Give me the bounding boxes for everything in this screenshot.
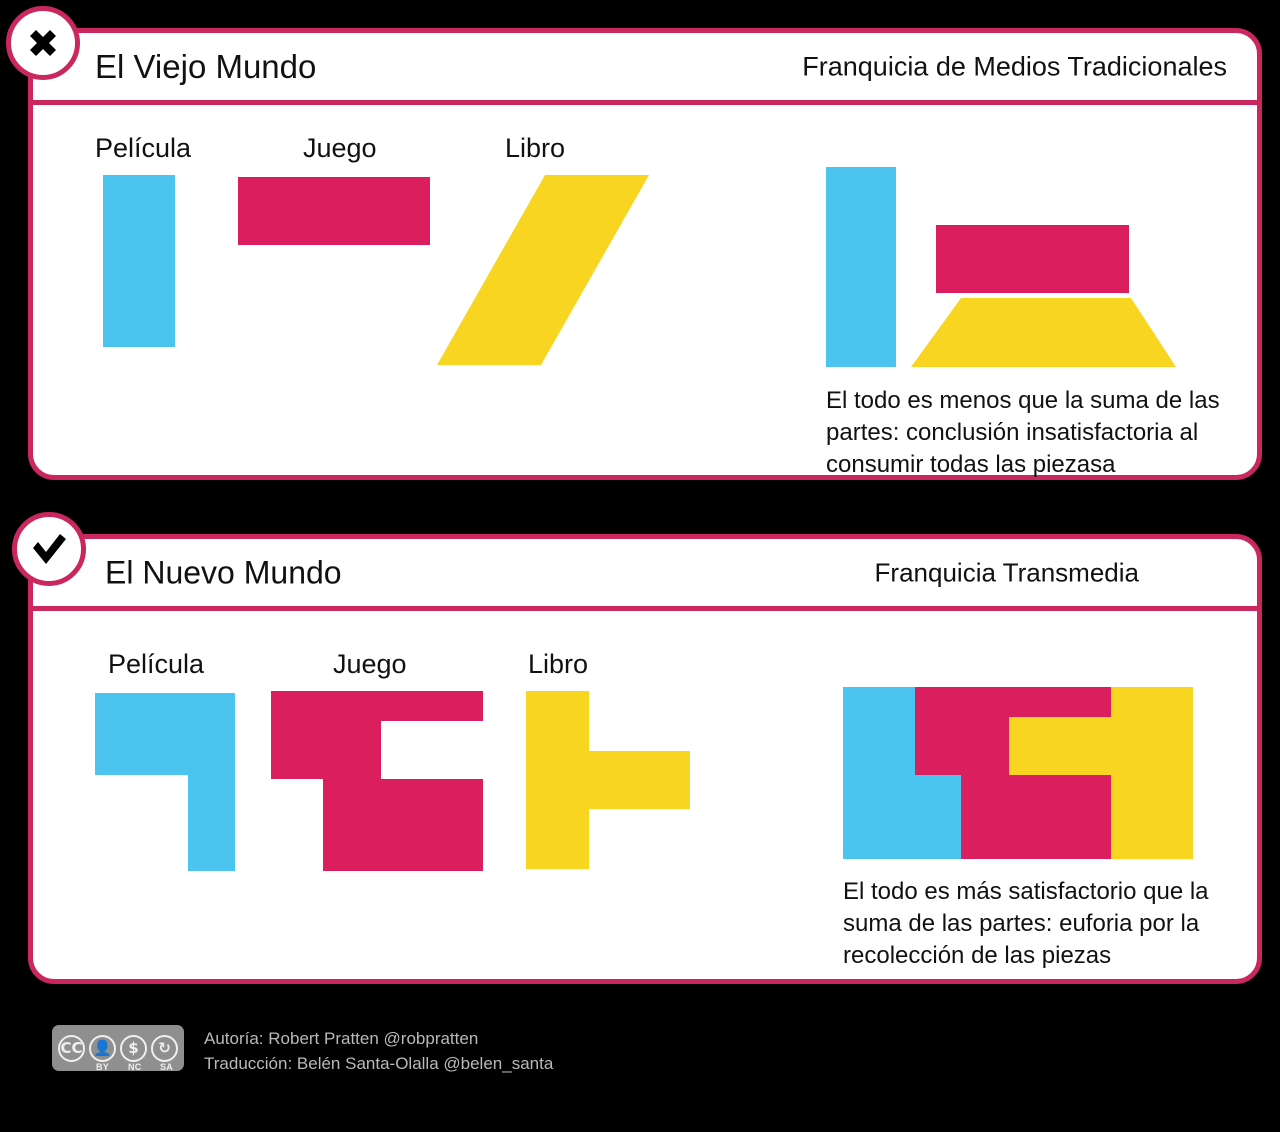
panel-new-world-header: El Nuevo Mundo Franquicia Transmedia [33, 539, 1257, 611]
check-glyph [28, 528, 70, 570]
shape-pelicula-new [95, 693, 235, 871]
cc-mark-sa: ↻ [151, 1035, 178, 1062]
panel-new-world: El Nuevo Mundo Franquicia Transmedia Pel… [28, 534, 1262, 984]
panel-old-world-title: El Viejo Mundo [95, 48, 316, 86]
column-label-juego-new: Juego [333, 649, 407, 680]
panel-old-world-header: El Viejo Mundo Franquicia de Medios Trad… [33, 33, 1257, 105]
cc-mark-by: 👤 [89, 1035, 116, 1062]
panel-new-world-body: Película Juego Libro El todo es más sati… [33, 611, 1257, 979]
shape-pelicula-old [103, 175, 175, 347]
cc-mark-nc: $ [120, 1035, 147, 1062]
column-label-pelicula-new: Película [108, 649, 204, 680]
composite-shape-pink-old [936, 225, 1129, 293]
column-label-libro-old: Libro [505, 133, 565, 164]
composite-shape-blue-old [826, 167, 896, 367]
panel-old-world: El Viejo Mundo Franquicia de Medios Trad… [28, 28, 1262, 480]
footer: CC 👤 $ ↻ BY NC SA Autoría: Robert Pratte… [52, 1025, 553, 1076]
footer-attribution: Autoría: Robert Pratten @robpratten Trad… [204, 1025, 553, 1076]
panel-new-world-subtitle: Franquicia Transmedia [875, 557, 1139, 588]
cc-sub-sa: SA [160, 1062, 173, 1072]
composite-puzzle-assembled [843, 687, 1193, 859]
cc-by-nc-sa-icon: CC 👤 $ ↻ BY NC SA [52, 1025, 184, 1071]
cross-glyph [23, 23, 63, 63]
column-label-libro-new: Libro [528, 649, 588, 680]
panel-old-world-body: Película Juego Libro El todo es menos qu… [33, 105, 1257, 475]
shape-libro-old [437, 175, 649, 365]
footer-translator-line: Traducción: Belén Santa-Olalla @belen_sa… [204, 1051, 553, 1076]
shape-juego-new [271, 691, 483, 871]
composite-shape-yellow-old [911, 298, 1176, 367]
caption-old-world: El todo es menos que la suma de las part… [826, 385, 1246, 481]
panel-new-world-title: El Nuevo Mundo [105, 554, 342, 591]
cross-icon [6, 6, 80, 80]
shape-juego-old [238, 177, 430, 245]
column-label-juego-old: Juego [303, 133, 377, 164]
check-icon [12, 512, 86, 586]
column-label-pelicula-old: Película [95, 133, 191, 164]
shape-libro-new [526, 691, 690, 869]
caption-new-world: El todo es más satisfactorio que la suma… [843, 876, 1263, 972]
cc-sub-nc: NC [128, 1062, 142, 1072]
cc-mark-cc: CC [58, 1035, 85, 1062]
footer-author-line: Autoría: Robert Pratten @robpratten [204, 1026, 553, 1051]
cc-sub-by: BY [96, 1062, 109, 1072]
panel-old-world-subtitle: Franquicia de Medios Tradicionales [802, 51, 1227, 82]
